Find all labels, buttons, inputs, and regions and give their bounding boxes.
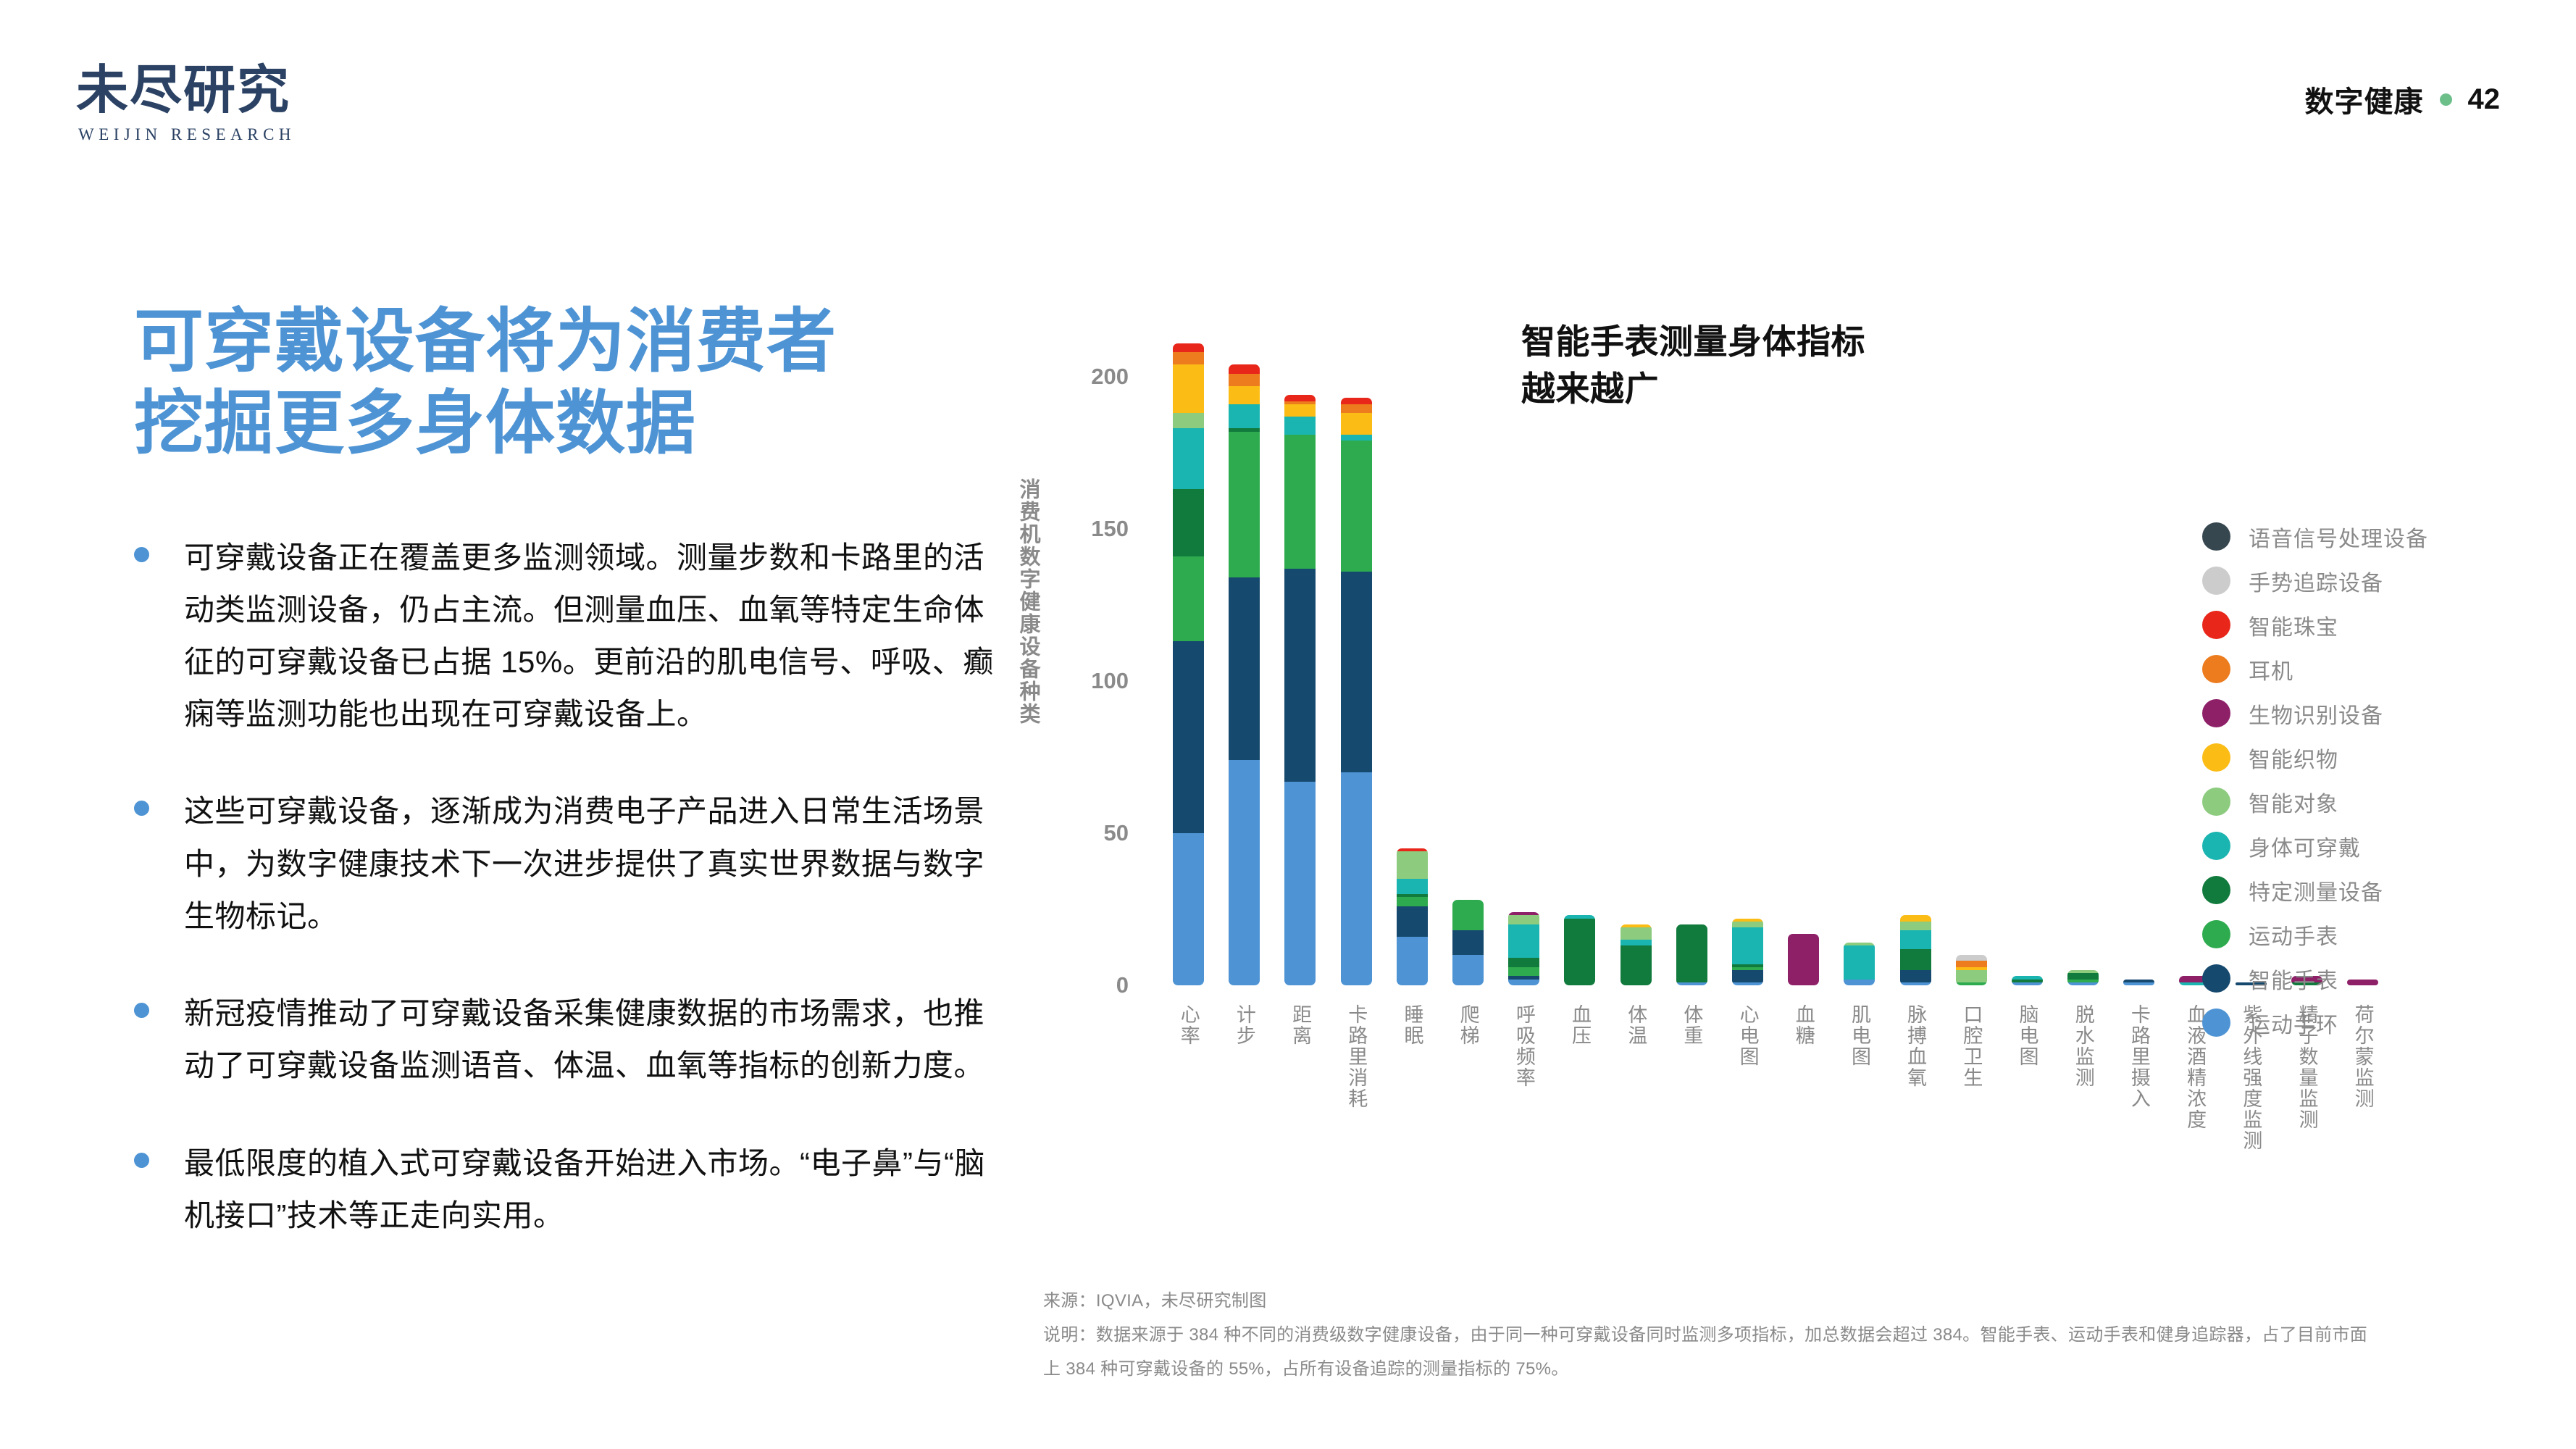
footnote-note-line-1: 说明：数据来源于 384 种不同的消费级数字健康设备，由于同一种可穿戴设备同时监… [1043, 1319, 2492, 1353]
logo-english-name: WEIJIN RESEARCH [76, 125, 344, 144]
legend-swatch-icon [2202, 920, 2230, 948]
bar-segment [1173, 489, 1204, 556]
legend-swatch-icon [2202, 522, 2230, 551]
bar-segment [1173, 364, 1204, 413]
chart-footnote: 来源：IQVIA，未尽研究制图 说明：数据来源于 384 种不同的消费级数字健康… [1043, 1285, 2492, 1386]
bar-segment [1229, 577, 1260, 760]
stacked-bar[interactable] [1229, 364, 1260, 985]
bar-segment [1788, 934, 1819, 985]
bar-segment [1508, 958, 1539, 967]
bar-column[interactable]: 呼吸频率 [1496, 239, 1552, 985]
legend-label: 智能手表 [2249, 963, 2338, 995]
legend-swatch-icon [2202, 655, 2230, 683]
bar-segment [1341, 398, 1372, 404]
stacked-bar[interactable] [1284, 395, 1316, 985]
legend-swatch-icon [2202, 611, 2230, 639]
bar-segment [1397, 906, 1428, 937]
y-axis-tick: 50 [1104, 820, 1129, 846]
bar-column[interactable]: 计步 [1216, 239, 1272, 985]
x-axis-label: 脑电图 [2016, 1004, 2038, 1067]
legend-swatch-icon [2202, 964, 2230, 993]
x-axis-label: 脱水监测 [2072, 1004, 2094, 1088]
x-axis-label: 脉搏血氧 [1904, 1004, 1926, 1088]
bar-segment [1341, 440, 1372, 572]
bar-segment [1341, 413, 1372, 434]
legend-item[interactable]: 运动手环 [2202, 1001, 2428, 1045]
bar-segment [1621, 945, 1652, 985]
bar-segment [1229, 386, 1260, 404]
bullet-dot-icon [134, 1003, 149, 1018]
bar-segment [1900, 970, 1931, 982]
y-axis-tick: 0 [1116, 972, 1129, 998]
bar-segment [1229, 374, 1260, 386]
separator-dot-icon [2440, 93, 2452, 106]
bar-segment [2067, 982, 2099, 985]
bar-segment [1452, 955, 1484, 985]
stacked-bar[interactable] [1397, 848, 1428, 985]
legend-swatch-icon [2202, 699, 2230, 727]
legend-label: 手势追踪设备 [2249, 565, 2383, 597]
bar-segment [1732, 982, 1763, 985]
header-topic-label: 数字健康 [2305, 78, 2424, 120]
bar-column[interactable]: 爬梯 [1440, 239, 1496, 985]
bar-column[interactable]: 脉搏血氧 [1887, 239, 1943, 985]
bar-segment [1621, 940, 1652, 945]
legend-label: 运动手表 [2249, 919, 2338, 951]
legend-item[interactable]: 手势追踪设备 [2202, 559, 2428, 603]
legend-label: 智能珠宝 [2249, 609, 2338, 641]
brand-logo: 未尽研究 WEIJIN RESEARCH [76, 64, 344, 144]
bar-segment [1956, 955, 1987, 961]
legend-item[interactable]: 语音信号处理设备 [2202, 514, 2428, 559]
bar-segment [1508, 915, 1539, 924]
x-axis-label: 体重 [1681, 1004, 1702, 1046]
bar-segment [1452, 930, 1484, 955]
bar-column[interactable]: 距离 [1272, 239, 1328, 985]
bar-segment [1173, 413, 1204, 428]
stacked-bar[interactable] [1621, 924, 1652, 985]
bar-segment [1452, 900, 1484, 930]
header-meta: 数字健康 42 [2305, 78, 2501, 120]
x-axis-label: 睡眠 [1401, 1004, 1423, 1046]
bar-segment [1229, 760, 1260, 985]
page-title-line-1: 可穿戴设备将为消费者 [134, 301, 996, 383]
legend-swatch-icon [2202, 1009, 2230, 1037]
bullet-text: 最低限度的植入式可穿戴设备开始进入市场。“电子鼻”与“脑机接口”技术等正走向实用… [184, 1137, 996, 1242]
bar-column[interactable]: 卡路里消耗 [1329, 239, 1384, 985]
bar-segment [1956, 970, 1987, 982]
x-axis-label: 爬梯 [1457, 1004, 1479, 1046]
stacked-bar[interactable] [1732, 919, 1763, 985]
bar-column[interactable]: 体温 [1608, 239, 1664, 985]
legend-item[interactable]: 智能对象 [2202, 780, 2428, 824]
y-axis-tick: 200 [1091, 364, 1129, 390]
x-axis-label: 口腔卫生 [1960, 1004, 1982, 1088]
legend-label: 生物识别设备 [2249, 698, 2383, 730]
bullet-text: 可穿戴设备正在覆盖更多监测领域。测量步数和卡路里的活动类监测设备，仍占主流。但测… [184, 532, 996, 741]
stacked-bar[interactable] [2012, 976, 2043, 985]
legend-item[interactable]: 运动手表 [2202, 912, 2428, 956]
bar-segment [1956, 982, 1987, 985]
bar-column[interactable]: 血压 [1552, 239, 1607, 985]
stacked-bar[interactable] [2123, 980, 2154, 985]
bar-segment [1284, 569, 1316, 782]
stacked-bar[interactable] [1788, 934, 1819, 985]
bar-column[interactable]: 脱水监测 [2055, 239, 2111, 985]
legend-label: 耳机 [2249, 653, 2293, 685]
x-axis-label: 血压 [1569, 1004, 1591, 1046]
bar-segment [1508, 924, 1539, 958]
legend-swatch-icon [2202, 832, 2230, 860]
list-item: 这些可穿戴设备，逐渐成为消费电子产品进入日常生活场景中，为数字健康技术下一次进步… [134, 785, 996, 943]
bar-segment [1732, 927, 1763, 964]
y-axis-title: 消费机数字健康设备种类 [1013, 478, 1043, 725]
legend-item[interactable]: 智能织物 [2202, 735, 2428, 780]
legend-label: 智能织物 [2249, 742, 2338, 774]
legend-item[interactable]: 身体可穿戴 [2202, 824, 2428, 868]
bullet-text: 这些可穿戴设备，逐渐成为消费电子产品进入日常生活场景中，为数字健康技术下一次进步… [184, 785, 996, 943]
stacked-bar[interactable] [2067, 970, 2099, 985]
bar-segment [1900, 982, 1931, 985]
bar-segment [1173, 428, 1204, 489]
bullet-dot-icon [134, 801, 149, 816]
page-title-line-2: 挖掘更多身体数据 [134, 383, 996, 464]
bar-column[interactable]: 睡眠 [1384, 239, 1440, 985]
legend-swatch-icon [2202, 743, 2230, 772]
legend-label: 智能对象 [2249, 786, 2338, 818]
x-axis-label: 心电图 [1736, 1004, 1758, 1067]
logo-chinese-name: 未尽研究 [76, 64, 344, 119]
x-axis-label: 体温 [1625, 1004, 1647, 1046]
chart-container: 智能手表测量身体指标 越来越广 消费机数字健康设备种类 050100150200… [1014, 239, 2521, 1369]
x-axis-label: 血糖 [1793, 1004, 1815, 1046]
chart-legend: 语音信号处理设备手势追踪设备智能珠宝耳机生物识别设备智能织物智能对象身体可穿戴特… [2202, 514, 2428, 1045]
bar-column[interactable]: 脑电图 [1999, 239, 2055, 985]
x-axis-label: 卡路里消耗 [1345, 1004, 1367, 1109]
bar-segment [1341, 572, 1372, 772]
stacked-bar[interactable] [1341, 398, 1372, 985]
list-item: 最低限度的植入式可穿戴设备开始进入市场。“电子鼻”与“脑机接口”技术等正走向实用… [134, 1137, 996, 1242]
bar-segment [1284, 782, 1316, 985]
left-content-column: 可穿戴设备将为消费者 挖掘更多身体数据 可穿戴设备正在覆盖更多监测领域。测量步数… [134, 301, 996, 1287]
bar-segment [1508, 967, 1539, 977]
page-title: 可穿戴设备将为消费者 挖掘更多身体数据 [134, 301, 996, 465]
x-axis-label: 距离 [1289, 1004, 1311, 1046]
bar-segment [1900, 915, 1931, 921]
legend-item[interactable]: 耳机 [2202, 647, 2428, 691]
bar-segment [2012, 982, 2043, 985]
bullet-list: 可穿戴设备正在覆盖更多监测领域。测量步数和卡路里的活动类监测设备，仍占主流。但测… [134, 532, 996, 1243]
bar-segment [1173, 641, 1204, 833]
legend-label: 语音信号处理设备 [2249, 521, 2428, 553]
bar-segment [1844, 980, 1875, 985]
bar-segment [1341, 404, 1372, 414]
bar-segment [1173, 556, 1204, 642]
y-axis-tick: 150 [1091, 516, 1129, 542]
stacked-bar[interactable] [1508, 912, 1539, 985]
stacked-bar[interactable] [1956, 955, 1987, 985]
bar-segment [1229, 404, 1260, 429]
bullet-dot-icon [134, 547, 149, 562]
bar-segment [1621, 927, 1652, 940]
legend-item[interactable]: 智能珠宝 [2202, 603, 2428, 647]
legend-item[interactable]: 智能手表 [2202, 956, 2428, 1001]
bullet-text: 新冠疫情推动了可穿戴设备采集健康数据的市场需求，也推动了可穿戴设备监测语音、体温… [184, 987, 996, 1092]
bar-segment [1229, 432, 1260, 578]
page-number: 42 [2468, 83, 2501, 116]
legend-label: 特定测量设备 [2249, 874, 2383, 906]
bar-segment [1284, 417, 1316, 435]
list-item: 新冠疫情推动了可穿戴设备采集健康数据的市场需求，也推动了可穿戴设备监测语音、体温… [134, 987, 996, 1092]
stacked-bar[interactable] [1452, 900, 1484, 985]
bar-segment [1844, 945, 1875, 979]
bar-segment [1284, 395, 1316, 401]
legend-label: 运动手环 [2249, 1007, 2338, 1039]
bar-segment [1341, 435, 1372, 440]
x-axis-label: 肌电图 [1849, 1004, 1870, 1067]
bar-segment [1508, 980, 1539, 985]
bar-segment [1564, 919, 1595, 985]
bar-segment [1676, 982, 1707, 985]
bar-segment [1284, 404, 1316, 417]
bar-column[interactable]: 口腔卫生 [1944, 239, 1999, 985]
x-axis-label: 呼吸频率 [1513, 1004, 1535, 1088]
footnote-note-line-2: 上 384 种可穿戴设备的 55%，占所有设备追踪的测量指标的 75%。 [1043, 1353, 2492, 1387]
x-axis-label: 卡路里摄入 [2128, 1004, 2150, 1109]
legend-swatch-icon [2202, 876, 2230, 904]
bar-column[interactable]: 心电图 [1720, 239, 1776, 985]
bar-segment [1397, 851, 1428, 879]
bar-segment [1900, 922, 1931, 931]
bar-segment [1732, 922, 1763, 927]
bar-column[interactable]: 肌电图 [1831, 239, 1887, 985]
bar-segment [1173, 343, 1204, 353]
bar-segment [1229, 364, 1260, 374]
bar-segment [1397, 937, 1428, 985]
bar-segment [1341, 772, 1372, 985]
bar-segment [1900, 949, 1931, 970]
bar-segment [1284, 435, 1316, 569]
list-item: 可穿戴设备正在覆盖更多监测领域。测量步数和卡路里的活动类监测设备，仍占主流。但测… [134, 532, 996, 741]
bar-segment [1397, 879, 1428, 894]
stacked-bar[interactable] [1676, 924, 1707, 985]
bar-segment [1956, 961, 1987, 966]
legend-label: 身体可穿戴 [2249, 830, 2361, 862]
legend-swatch-icon [2202, 788, 2230, 816]
y-axis-tick: 100 [1091, 668, 1129, 694]
bar-segment [1676, 924, 1707, 982]
bar-segment [1732, 970, 1763, 982]
legend-swatch-icon [2202, 567, 2230, 595]
bar-segment [1173, 833, 1204, 985]
bar-column[interactable]: 血糖 [1776, 239, 1831, 985]
bar-segment [1173, 352, 1204, 364]
stacked-bar[interactable] [1173, 343, 1204, 985]
bar-segment [2123, 982, 2154, 985]
x-axis-label: 计步 [1234, 1004, 1255, 1046]
bar-segment [1397, 897, 1428, 906]
bullet-dot-icon [134, 1153, 149, 1168]
stacked-bar[interactable] [1900, 915, 1931, 985]
legend-item[interactable]: 生物识别设备 [2202, 691, 2428, 735]
bar-segment [2067, 973, 2099, 979]
bar-segment [1900, 930, 1931, 948]
footnote-source: 来源：IQVIA，未尽研究制图 [1043, 1285, 2492, 1319]
bar-column[interactable]: 卡路里摄入 [2111, 239, 2167, 985]
x-axis-label: 心率 [1177, 1004, 1199, 1046]
stacked-bar[interactable] [1564, 915, 1595, 985]
bar-column[interactable]: 体重 [1664, 239, 1720, 985]
bar-column[interactable]: 心率 [1161, 239, 1216, 985]
legend-item[interactable]: 特定测量设备 [2202, 868, 2428, 912]
stacked-bar[interactable] [1844, 943, 1875, 985]
